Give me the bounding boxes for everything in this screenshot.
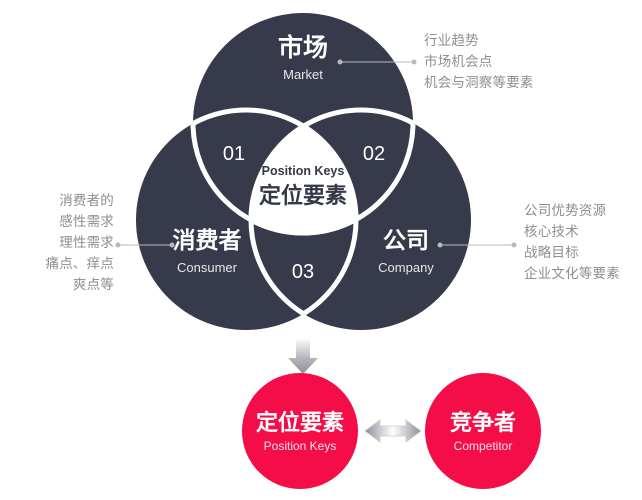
venn-label-company-en: Company: [378, 260, 434, 275]
outcome-label-competitor-cn: 竞争者: [450, 410, 516, 436]
venn-label-market: 市场 Market: [278, 33, 328, 82]
outcome-label-position-keys-en: Position Keys: [264, 439, 337, 453]
venn-label-market-cn: 市场: [278, 33, 328, 62]
annotation-company: 公司优势资源 核心技术 战略目标 企业文化等要素: [524, 200, 620, 284]
infographic-canvas: 市场 Market 消费者 Consumer 公司 Company 01 02 …: [0, 0, 642, 500]
venn-label-consumer-cn: 消费者: [173, 228, 242, 254]
overlap-label-02: 02: [363, 143, 385, 165]
annotation-consumer: 消费者的 感性需求 理性需求 痛点、痒点 爽点等: [6, 190, 114, 295]
venn-label-company-cn: 公司: [383, 228, 429, 254]
down-arrow-icon: [288, 338, 318, 374]
outcome-label-position-keys-cn: 定位要素: [256, 410, 344, 436]
annotation-market: 行业趋势 市场机会点 机会与洞察等要素: [424, 30, 534, 93]
venn-label-consumer: 消费者 Consumer: [173, 228, 242, 275]
outcome-node-competitor: 竞争者 Competitor: [425, 373, 541, 489]
overlap-label-03: 03: [292, 261, 314, 283]
venn-label-company: 公司 Company: [378, 228, 434, 275]
venn-label-consumer-en: Consumer: [177, 260, 238, 275]
outcome-label-competitor-en: Competitor: [454, 439, 513, 453]
overlap-label-01: 01: [223, 143, 245, 165]
bidirectional-arrow-icon: [365, 420, 421, 442]
outcome-node-position-keys: 定位要素 Position Keys: [242, 373, 358, 489]
center-label-cn: 定位要素: [259, 183, 347, 209]
center-label-en: Position Keys: [262, 164, 345, 178]
venn-label-market-en: Market: [283, 67, 323, 82]
